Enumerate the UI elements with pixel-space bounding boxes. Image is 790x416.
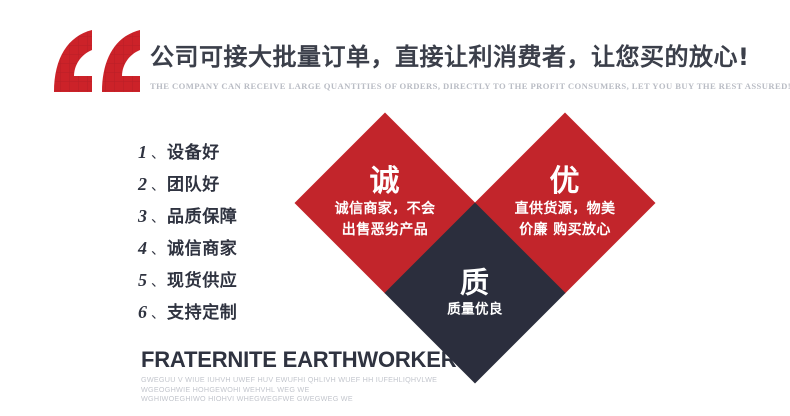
brand-description: GWEGUU V WIUE IUHVH UWEF HUV EWUFHI QHLI… (141, 375, 481, 404)
page-title: 公司可接大批量订单，直接让利消费者，让您买的放心! (150, 40, 780, 74)
list-item-number: 5 (138, 264, 150, 296)
brand-block: FRATERNITE EARTHWORKERS GWEGUU V WIUE IU… (141, 348, 481, 404)
banner-header: 公司可接大批量订单，直接让利消费者，让您买的放心! THE COMPANY CA… (0, 0, 790, 118)
list-item: 4 、 诚信商家 (138, 232, 308, 264)
list-item: 2 、 团队好 (138, 168, 308, 200)
brand-description-line: WGHIWOEGHIWO HIOHVI WHEGWEGFWE GWEGWEG W… (141, 394, 481, 404)
brand-name: FRATERNITE EARTHWORKERS (141, 348, 481, 372)
list-item-number: 1 (138, 136, 150, 168)
diamond-card-line1: 质量优良 (389, 300, 561, 321)
diamond-card-content: 优 直供货源，物美 价廉 购买放心 (479, 165, 651, 241)
quote-open-icon (52, 28, 144, 96)
diamond-card-char: 诚 (299, 165, 471, 199)
diamond-card-line1: 诚信商家，不会 (299, 199, 471, 220)
list-item-number: 4 (138, 232, 150, 264)
advantages-banner: 公司可接大批量订单，直接让利消费者，让您买的放心! THE COMPANY CA… (0, 0, 790, 416)
brand-description-line: GWEGUU V WIUE IUHVH UWEF HUV EWUFHI QHLI… (141, 375, 481, 385)
brand-description-line: WGEOGHWIE HOHGEWOHI WEHVHL WEG WE (141, 385, 481, 395)
list-item: 1 、 设备好 (138, 136, 308, 168)
list-item-label: 诚信商家 (167, 233, 237, 265)
list-item-label: 品质保障 (167, 201, 237, 233)
list-item-label: 设备好 (167, 137, 220, 169)
diamond-card-char: 优 (479, 165, 651, 199)
diamond-card-content: 质 质量优良 (389, 266, 561, 321)
header-text-block: 公司可接大批量订单，直接让利消费者，让您买的放心! THE COMPANY CA… (150, 40, 780, 92)
list-item: 6 、 支持定制 (138, 296, 308, 328)
feature-list: 1 、 设备好 2 、 团队好 3 、 品质保障 4 、 诚信商家 5 、 现货… (138, 136, 308, 328)
list-item: 5 、 现货供应 (138, 264, 308, 296)
diamond-card-line1: 直供货源，物美 (479, 199, 651, 220)
diamond-card-char: 质 (389, 266, 561, 300)
list-item-label: 现货供应 (167, 265, 237, 297)
list-item-separator: 、 (151, 170, 165, 202)
list-item-separator: 、 (151, 234, 165, 266)
list-item: 3 、 品质保障 (138, 200, 308, 232)
list-item-separator: 、 (151, 202, 165, 234)
list-item-number: 2 (138, 168, 150, 200)
page-subtitle: THE COMPANY CAN RECEIVE LARGE QUANTITIES… (150, 80, 780, 92)
list-item-label: 支持定制 (167, 297, 237, 329)
list-item-separator: 、 (151, 298, 165, 330)
list-item-separator: 、 (151, 266, 165, 298)
list-item-number: 3 (138, 200, 150, 232)
list-item-separator: 、 (151, 138, 165, 170)
list-item-label: 团队好 (167, 169, 220, 201)
diamond-card-content: 诚 诚信商家，不会 出售恶劣产品 (299, 165, 471, 241)
list-item-number: 6 (138, 296, 150, 328)
diamond-group: 诚 诚信商家，不会 出售恶劣产品 优 直供货源，物美 价廉 购买放心 质 质量优… (290, 114, 660, 386)
